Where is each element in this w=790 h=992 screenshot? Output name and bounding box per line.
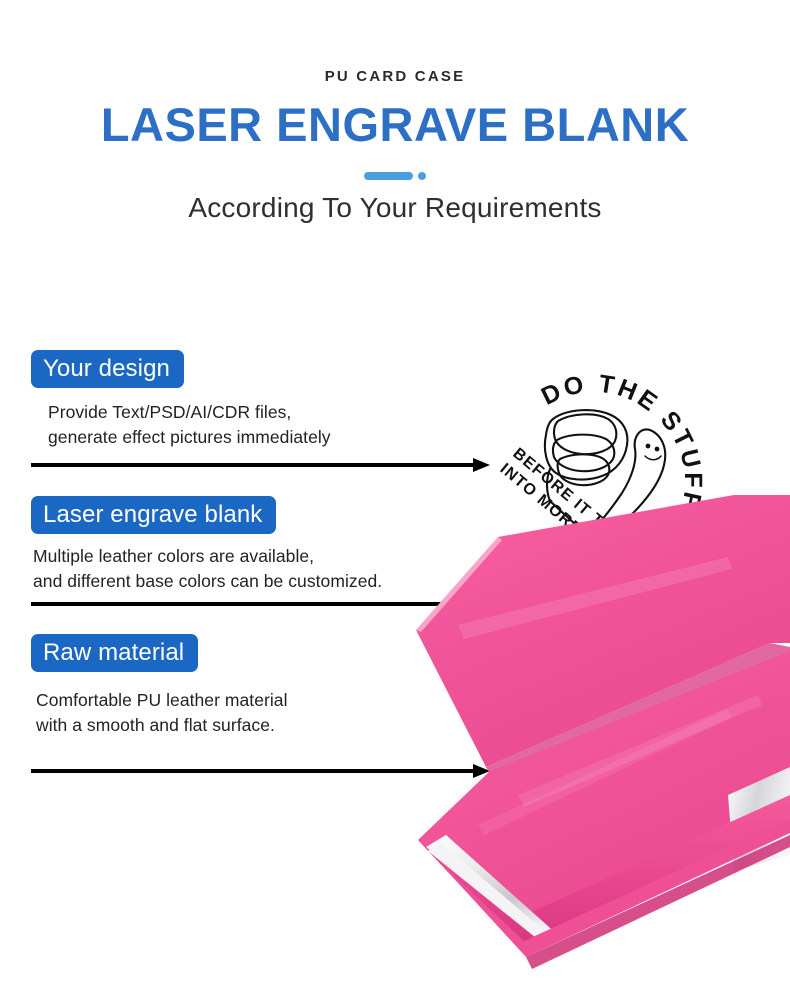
feature-description-raw-material: Comfortable PU leather material with a s… xyxy=(36,688,456,738)
smiley-eye-right xyxy=(655,447,660,452)
divider-bar xyxy=(364,172,413,180)
product-infographic: PU CARD CASE LASER ENGRAVE BLANK Accordi… xyxy=(0,0,790,992)
feature-description-your-design: Provide Text/PSD/AI/CDR files, generate … xyxy=(48,400,468,450)
decorative-divider xyxy=(0,170,790,182)
arrow-line xyxy=(31,463,474,467)
smiley-eye-left xyxy=(646,444,651,449)
feature-badge-laser-engrave-blank: Laser engrave blank xyxy=(31,496,276,534)
feature-badge-raw-material: Raw material xyxy=(31,634,198,672)
finger-2 xyxy=(553,435,614,472)
product-photo-pu-card-case xyxy=(398,495,790,992)
arrow-head xyxy=(473,458,490,472)
flow-arrow-1 xyxy=(31,458,490,472)
divider-dot xyxy=(418,172,426,180)
page-title: LASER ENGRAVE BLANK xyxy=(0,98,790,152)
page-subtitle: According To Your Requirements xyxy=(0,192,790,224)
eyebrow-text: PU CARD CASE xyxy=(0,68,790,85)
feature-badge-your-design: Your design xyxy=(31,350,184,388)
smiley-mouth xyxy=(645,456,661,460)
